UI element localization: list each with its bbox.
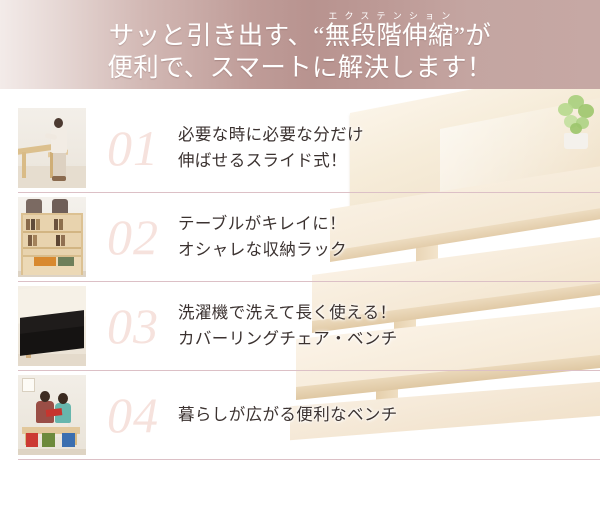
header-ruby-base: 無段階伸縮 — [325, 21, 454, 50]
feature-number-02: 02 — [92, 199, 174, 275]
thumb-shelf-divider — [23, 247, 81, 249]
feature-number-04: 04 — [92, 377, 174, 453]
header-ruby-extension: 無段階伸縮エクステンション — [325, 21, 454, 50]
thumb-book — [61, 235, 65, 246]
feature-row: 01 必要な時に必要な分だけ 伸ばせるスライド式！ — [18, 104, 600, 193]
thumb-drawer-item — [58, 257, 74, 266]
thumb-bag-red — [26, 433, 38, 447]
feature-thumbnail-03 — [18, 286, 86, 366]
thumb-person-legs — [53, 152, 66, 178]
feature-line: テーブルがキレイに！ — [178, 211, 568, 237]
header-line-2: 便利で、スマートに解決します！ — [0, 52, 600, 83]
header-ruby-reading: エクステンション — [325, 11, 454, 21]
feature-row: 03 洗濯機で洗えて長く使える！ カバーリングチェア・ベンチ — [18, 282, 600, 371]
feature-line: カバーリングチェア・ベンチ — [178, 326, 568, 352]
thumb-book — [56, 235, 60, 246]
feature-text-03: 洗濯機で洗えて長く使える！ カバーリングチェア・ベンチ — [178, 282, 568, 370]
feature-list: 01 必要な時に必要な分だけ 伸ばせるスライド式！ — [0, 104, 600, 460]
thumb-person-shoes — [52, 176, 66, 181]
header-line-1: サッと引き出す、“無段階伸縮エクステンション”が — [109, 21, 491, 50]
thumb-table-leg — [22, 152, 26, 178]
feature-line: 暮らしが広がる便利なベンチ — [178, 402, 568, 428]
thumb-book — [54, 219, 58, 230]
thumb-child-head — [58, 393, 68, 404]
thumb-child-head — [40, 391, 50, 402]
feature-thumbnail-01 — [18, 108, 86, 188]
thumb-book — [28, 235, 32, 246]
feature-text-04: 暮らしが広がる便利なベンチ — [178, 371, 568, 459]
feature-row: 02 テーブルがキレイに！ オシャレな収納ラック — [18, 193, 600, 282]
feature-number-01: 01 — [92, 110, 174, 186]
feature-row: 04 暮らしが広がる便利なベンチ — [18, 371, 600, 460]
page-title: サッと引き出す、“無段階伸縮エクステンション”が 便利で、スマートに解決します！ — [0, 11, 600, 83]
thumb-floor — [18, 449, 86, 455]
feature-text-01: 必要な時に必要な分だけ 伸ばせるスライド式！ — [178, 104, 568, 192]
feature-thumbnail-04 — [18, 375, 86, 455]
thumb-shelf-divider — [23, 231, 81, 233]
thumb-bag-green — [42, 433, 55, 447]
feature-text-02: テーブルがキレイに！ オシャレな収納ラック — [178, 193, 568, 281]
feature-line: 洗濯機で洗えて長く使える！ — [178, 300, 568, 326]
feature-line: オシャレな収納ラック — [178, 237, 568, 263]
feature-thumbnail-02 — [18, 197, 86, 277]
thumb-wall-frame — [22, 378, 35, 392]
thumb-drawer-item — [34, 257, 56, 266]
header-line-1-prefix: サッと引き出す、“ — [109, 21, 325, 50]
feature-line: 必要な時に必要な分だけ — [178, 122, 568, 148]
feature-line: 伸ばせるスライド式！ — [178, 148, 568, 174]
thumb-book — [33, 235, 37, 246]
header-band: サッと引き出す、“無段階伸縮エクステンション”が 便利で、スマートに解決します！ — [0, 0, 600, 89]
thumb-person-body — [51, 127, 67, 153]
thumb-book — [31, 219, 35, 230]
thumb-person-head — [54, 118, 63, 128]
thumb-book — [36, 219, 40, 230]
feature-number-03: 03 — [92, 288, 174, 364]
thumb-book — [26, 219, 30, 230]
header-line-1-suffix: ”が — [454, 21, 491, 50]
thumb-book — [59, 219, 63, 230]
promo-banner: サッと引き出す、“無段階伸縮エクステンション”が 便利で、スマートに解決します！ — [0, 0, 600, 515]
thumb-bag-blue — [62, 433, 75, 447]
